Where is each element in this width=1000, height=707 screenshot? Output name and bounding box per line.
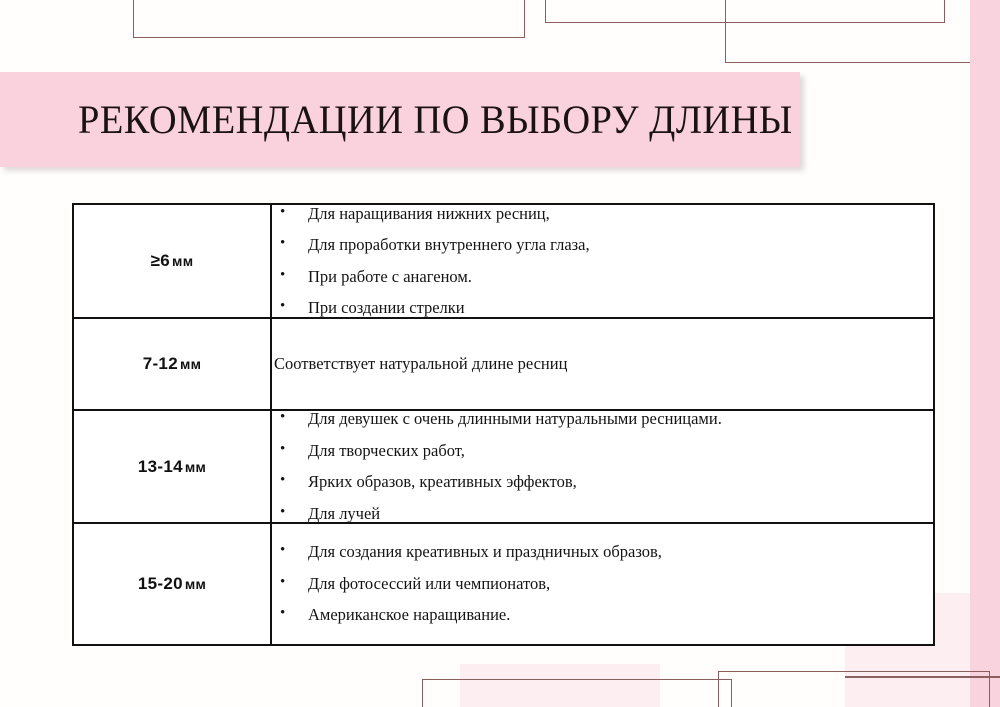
decorative-pink-band-right — [970, 0, 1000, 707]
list-item: Для фотосессий или чемпионатов, — [272, 576, 933, 593]
description-cell: Для наращивания нижних ресниц, Для прора… — [271, 204, 934, 318]
title-banner: РЕКОМЕНДАЦИИ ПО ВЫБОРУ ДЛИНЫ — [0, 72, 800, 167]
table-body: ≥6мм Для наращивания нижних ресниц, Для … — [73, 204, 934, 645]
decorative-rectangle-top-left — [133, 0, 525, 38]
bullet-list: Для создания креативных и праздничных об… — [272, 544, 933, 624]
list-item: Для лучей — [272, 506, 933, 523]
page-title: РЕКОМЕНДАЦИИ ПО ВЫБОРУ ДЛИНЫ — [78, 96, 793, 143]
length-value: 15-20 — [138, 574, 183, 593]
length-unit: мм — [185, 576, 206, 592]
length-cell: 15-20мм — [73, 523, 271, 645]
list-item: Для создания креативных и праздничных об… — [272, 544, 933, 561]
decorative-rectangle-bottom-right — [718, 671, 990, 707]
length-unit: мм — [172, 253, 193, 269]
list-item: Для проработки внутреннего угла глаза, — [272, 237, 933, 254]
length-cell: 7-12мм — [73, 318, 271, 410]
list-item: Для девушек с очень длинными натуральным… — [272, 411, 933, 428]
list-item: Для наращивания нижних ресниц, — [272, 206, 933, 223]
decorative-rectangle-top-right — [725, 0, 990, 63]
length-recommendation-table: ≥6мм Для наращивания нижних ресниц, Для … — [72, 203, 935, 646]
length-cell: ≥6мм — [73, 204, 271, 318]
length-value: 13-14 — [138, 457, 183, 476]
description-cell: Для девушек с очень длинными натуральным… — [271, 410, 934, 523]
length-value: 7-12 — [143, 354, 178, 373]
table-row: 7-12мм Соответствует натуральной длине р… — [73, 318, 934, 410]
description-cell: Для создания креативных и праздничных об… — [271, 523, 934, 645]
list-item: Для творческих работ, — [272, 443, 933, 460]
length-unit: мм — [180, 356, 201, 372]
length-unit: мм — [185, 459, 206, 475]
description-text: Соответствует натуральной длине ресниц — [272, 355, 933, 373]
slide-canvas: РЕКОМЕНДАЦИИ ПО ВЫБОРУ ДЛИНЫ ≥6мм Для на… — [0, 0, 1000, 707]
table-row: ≥6мм Для наращивания нижних ресниц, Для … — [73, 204, 934, 318]
table-row: 13-14мм Для девушек с очень длинными нат… — [73, 410, 934, 523]
length-value: ≥6 — [151, 251, 170, 270]
bullet-list: Для девушек с очень длинными натуральным… — [272, 411, 933, 522]
list-item: При работе с анагеном. — [272, 269, 933, 286]
table-row: 15-20мм Для создания креативных и праздн… — [73, 523, 934, 645]
list-item: Ярких образов, креативных эффектов, — [272, 474, 933, 491]
list-item: При создании стрелки — [272, 300, 933, 317]
list-item: Американское наращивание. — [272, 607, 933, 624]
bullet-list: Для наращивания нижних ресниц, Для прора… — [272, 206, 933, 317]
description-cell: Соответствует натуральной длине ресниц — [271, 318, 934, 410]
decorative-rectangle-bottom-left — [422, 679, 732, 707]
length-cell: 13-14мм — [73, 410, 271, 523]
